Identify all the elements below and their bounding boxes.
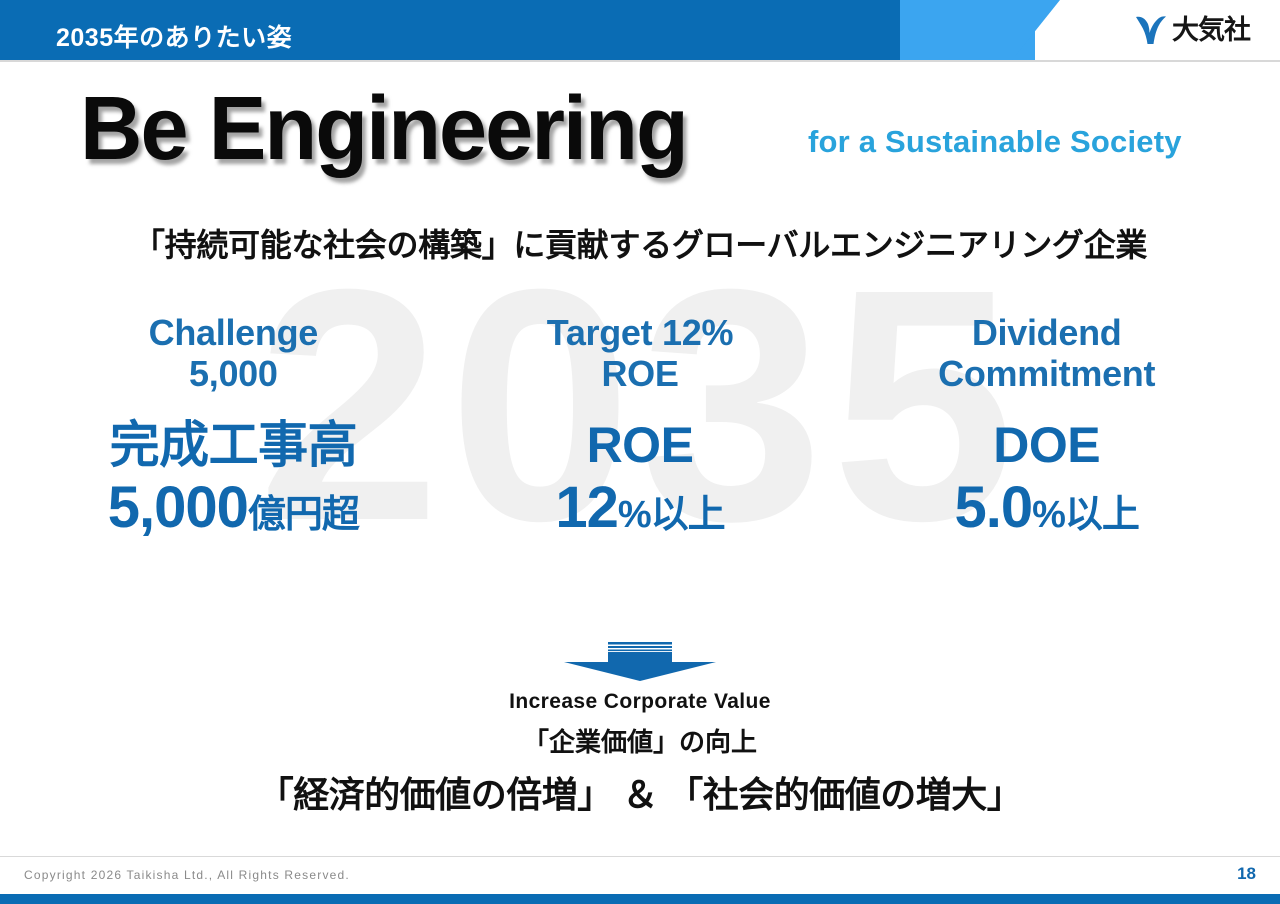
copyright-text: Copyright 2026 Taikisha Ltd., All Rights… <box>24 868 350 882</box>
kpi-number: 5,000 <box>108 475 248 540</box>
kpi-label-roe: ROE <box>437 416 844 474</box>
kpi-heading-roe: Target 12% ROE <box>437 312 844 394</box>
kpi-column-challenge: Challenge 5,000 完成工事高 5,000億円超 <box>30 312 437 543</box>
header-accent-diagonal <box>900 0 1060 62</box>
kpi-unit: %以上 <box>618 494 725 536</box>
statement-headline: 「経済的価値の倍増」 ＆ 「社会的価値の増大」 <box>0 766 1280 818</box>
kpi-value-row: 5.0%以上 <box>843 474 1250 542</box>
company-logo: 大気社 <box>1134 14 1250 46</box>
kpi-number: 5.0 <box>954 475 1032 540</box>
kpi-heading-line1: Target 12% <box>437 312 844 353</box>
kpi-heading-line1: Dividend <box>843 312 1250 353</box>
kpi-heading-line1: Challenge <box>30 312 437 353</box>
page-number: 18 <box>1237 864 1256 884</box>
kpi-value-row: 12%以上 <box>437 474 844 542</box>
main-title-subtitle: for a Sustainable Society <box>808 124 1182 160</box>
kpi-heading-line2: ROE <box>437 353 844 394</box>
kpi-label-doe: DOE <box>843 416 1250 474</box>
kpi-heading-line2: Commitment <box>843 353 1250 394</box>
statement-japanese: 「企業価値」の向上 <box>0 722 1280 759</box>
statement-english: Increase Corporate Value <box>0 690 1280 714</box>
kpi-block-doe: DOE 5.0%以上 <box>843 416 1250 542</box>
kpi-column-roe: Target 12% ROE ROE 12%以上 <box>437 312 844 543</box>
main-title-row: Be Engineering for a Sustainable Society <box>0 88 1280 180</box>
footer-divider <box>0 856 1280 857</box>
kpi-block-challenge: 完成工事高 5,000億円超 <box>30 416 437 542</box>
slide-header: 2035年のありたい姿 <box>0 0 1280 62</box>
kpi-value-row: 5,000億円超 <box>30 474 437 542</box>
kpi-heading-challenge: Challenge 5,000 <box>30 312 437 394</box>
page-title: 2035年のありたい姿 <box>56 18 292 54</box>
header-underline <box>0 60 1280 62</box>
kpi-unit: 億円超 <box>248 494 359 536</box>
kpi-heading-doe: Dividend Commitment <box>843 312 1250 394</box>
main-title: Be Engineering <box>80 84 687 174</box>
kpi-label-kanseikojidaka: 完成工事高 <box>30 416 437 474</box>
slide: 2035 2035年のありたい姿 大気社 Be Engineering for … <box>0 0 1280 904</box>
kpi-column-doe: Dividend Commitment DOE 5.0%以上 <box>843 312 1250 543</box>
down-arrow-icon <box>530 669 750 686</box>
taikisha-v-mark-icon <box>1134 14 1168 46</box>
kpi-number: 12 <box>555 475 618 540</box>
kpi-heading-line2: 5,000 <box>30 353 437 394</box>
kpi-block-roe: ROE 12%以上 <box>437 416 844 542</box>
arrow-container <box>0 640 1280 687</box>
footer-bar <box>0 894 1280 904</box>
lead-sentence: 「持続可能な社会の構築」に貢献するグローバルエンジニアリング企業 <box>0 220 1280 266</box>
kpi-columns: Challenge 5,000 完成工事高 5,000億円超 Target 12… <box>30 312 1250 543</box>
kpi-unit: %以上 <box>1032 494 1139 536</box>
logo-text: 大気社 <box>1172 17 1250 44</box>
